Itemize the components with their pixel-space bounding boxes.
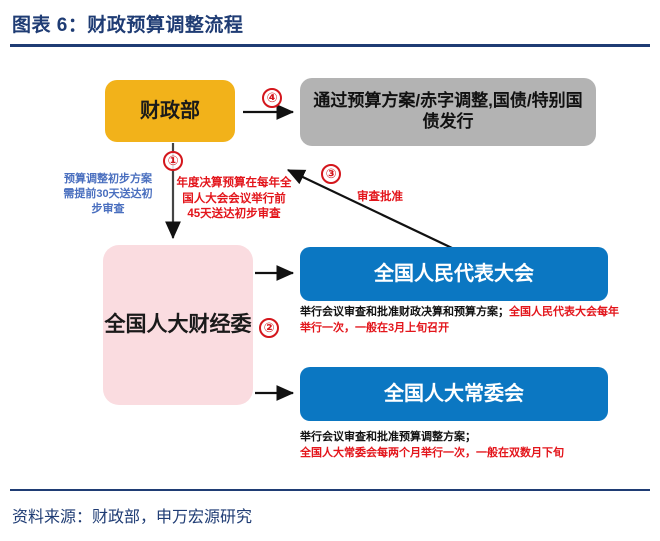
figure-canvas: 图表 6：财政预算调整流程 财政部 通过预算方案/赤字调整,国债/特别国债发行 … bbox=[0, 0, 660, 541]
annotation-30-day-note: 预算调整初步方案需提前30天送达初步审查 bbox=[60, 172, 156, 217]
node-npc-standing-committee[interactable]: 全国人大常委会 bbox=[300, 367, 608, 421]
caption-npc-black: 举行会议审查和批准财政决算和预算方案； bbox=[300, 306, 509, 318]
step-marker-3: ③ bbox=[321, 164, 341, 184]
title-divider bbox=[10, 44, 650, 47]
annotation-45-day-note: 年度决算预算在每年全国人大会会议举行前45天送达初步审查 bbox=[176, 176, 292, 223]
caption-npcsc-red: 全国人大常委会每两个月举行一次，一般在双数月下旬 bbox=[300, 447, 564, 459]
footer-divider bbox=[10, 489, 650, 491]
step-marker-2: ② bbox=[259, 318, 279, 338]
caption-npcsc: 举行会议审查和批准预算调整方案； 全国人大常委会每两个月举行一次，一般在双数月下… bbox=[300, 430, 630, 462]
node-budget-passed[interactable]: 通过预算方案/赤字调整,国债/特别国债发行 bbox=[300, 78, 596, 146]
node-label: 全国人民代表大会 bbox=[374, 262, 534, 286]
node-label: 通过预算方案/赤字调整,国债/特别国债发行 bbox=[310, 91, 586, 132]
node-ministry-of-finance[interactable]: 财政部 bbox=[105, 80, 235, 142]
node-label: 全国人大常委会 bbox=[384, 382, 524, 406]
annotation-review-approve: 审查批准 bbox=[357, 190, 403, 206]
step-marker-1: ① bbox=[163, 151, 183, 171]
figure-title: 图表 6：财政预算调整流程 bbox=[12, 10, 243, 37]
node-label: 财政部 bbox=[140, 99, 200, 123]
wire-npc-to-pass bbox=[288, 170, 452, 248]
source-note: 资料来源：财政部，申万宏源研究 bbox=[12, 503, 252, 527]
node-label: 全国人大财经委 bbox=[105, 312, 252, 338]
caption-npcsc-black: 举行会议审查和批准预算调整方案； bbox=[300, 431, 476, 443]
node-npc-finance-committee[interactable]: 全国人大财经委 bbox=[103, 245, 253, 405]
step-marker-4: ④ bbox=[262, 88, 282, 108]
node-national-peoples-congress[interactable]: 全国人民代表大会 bbox=[300, 247, 608, 301]
caption-npc: 举行会议审查和批准财政决算和预算方案；全国人民代表大会每年举行一次，一般在3月上… bbox=[300, 305, 620, 337]
